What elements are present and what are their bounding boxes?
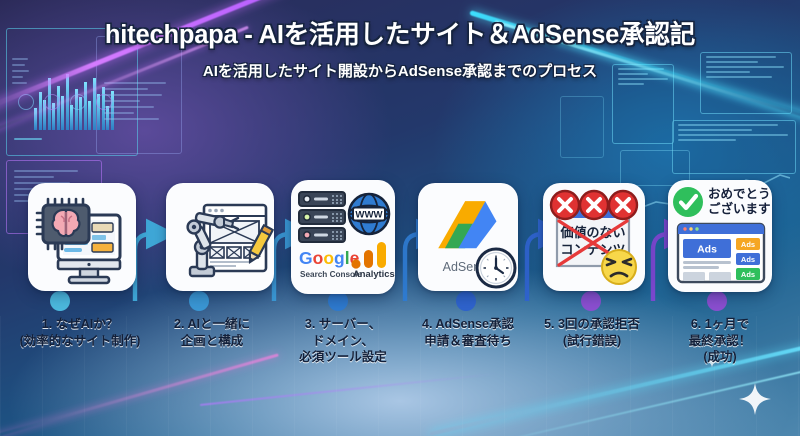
step-label-2: 2. AIと一緒に 企画と構成: [148, 316, 276, 349]
congrats-line1: おめでとう: [708, 187, 771, 201]
ad-label-side-1: Ads: [741, 240, 755, 249]
angry-face-icon: [602, 250, 636, 284]
ad-label-side-2: Ads: [741, 255, 755, 264]
server-www-google-tools-icon: WWW Google Search Console Analytics: [291, 180, 395, 294]
timeline-dot-1[interactable]: [50, 291, 70, 311]
step-card-6[interactable]: おめでとう ございます！ Ads Ads Ads Ads: [668, 180, 772, 292]
step-card-4[interactable]: AdSense: [418, 183, 518, 291]
robot-arm-wireframe-icon: [166, 183, 274, 291]
globe-www-label: WWW: [355, 210, 383, 221]
ad-label-main: Ads: [697, 244, 717, 256]
timeline-dot-6[interactable]: [707, 291, 727, 311]
header: hitechpapa - AIを活用したサイト＆AdSense承認記 AIを活用…: [0, 14, 800, 81]
analytics-label: Analytics: [353, 268, 395, 279]
check-circle-icon: [673, 187, 703, 217]
adsense-clock-icon: AdSense: [418, 183, 518, 291]
step-card-5[interactable]: 価値のない コンテンツ: [543, 183, 645, 291]
step-label-5: 5. 3回の承認拒否 (試行錯誤): [528, 316, 656, 349]
congrats-line2: ございます！: [708, 201, 772, 216]
ad-label-side-3: Ads: [741, 270, 755, 279]
step-label-1: 1. なぜAIか？ (効率的なサイト制作): [0, 316, 160, 349]
approved-ads-icon: おめでとう ございます！ Ads Ads Ads Ads: [668, 180, 772, 292]
infographic-canvas: hitechpapa - AIを活用したサイト＆AdSense承認記 AIを活用…: [0, 0, 800, 436]
step-label-4: 4. AdSense承認 申請＆審査待ち: [402, 316, 534, 349]
step-card-3[interactable]: WWW Google Search Console Analytics: [291, 180, 395, 294]
page-title: hitechpapa - AIを活用したサイト＆AdSense承認記: [0, 14, 800, 51]
connector-1-2: [135, 234, 160, 301]
step-label-6: 6. 1ヶ月で 最終承認！ (成功): [660, 316, 780, 366]
timeline-dot-4[interactable]: [456, 291, 476, 311]
x-badge-3: [609, 191, 637, 219]
page-subtitle: AIを活用したサイト開設からAdSense承認までのプロセス: [0, 60, 800, 81]
google-logo-text: Google: [299, 248, 360, 268]
timeline-dot-3[interactable]: [328, 291, 348, 311]
x-badge-1: [551, 191, 579, 219]
step-card-2[interactable]: [166, 183, 274, 291]
ai-chip-monitor-icon: [28, 183, 136, 291]
step-card-1[interactable]: [28, 183, 136, 291]
step-label-3: 3. サーバー、 ドメイン、 必須ツール設定: [276, 316, 410, 366]
rejected-content-icon: 価値のない コンテンツ: [543, 183, 645, 291]
timeline-dot-5[interactable]: [581, 291, 601, 311]
timeline-dot-2[interactable]: [189, 291, 209, 311]
x-badge-2: [580, 191, 608, 219]
